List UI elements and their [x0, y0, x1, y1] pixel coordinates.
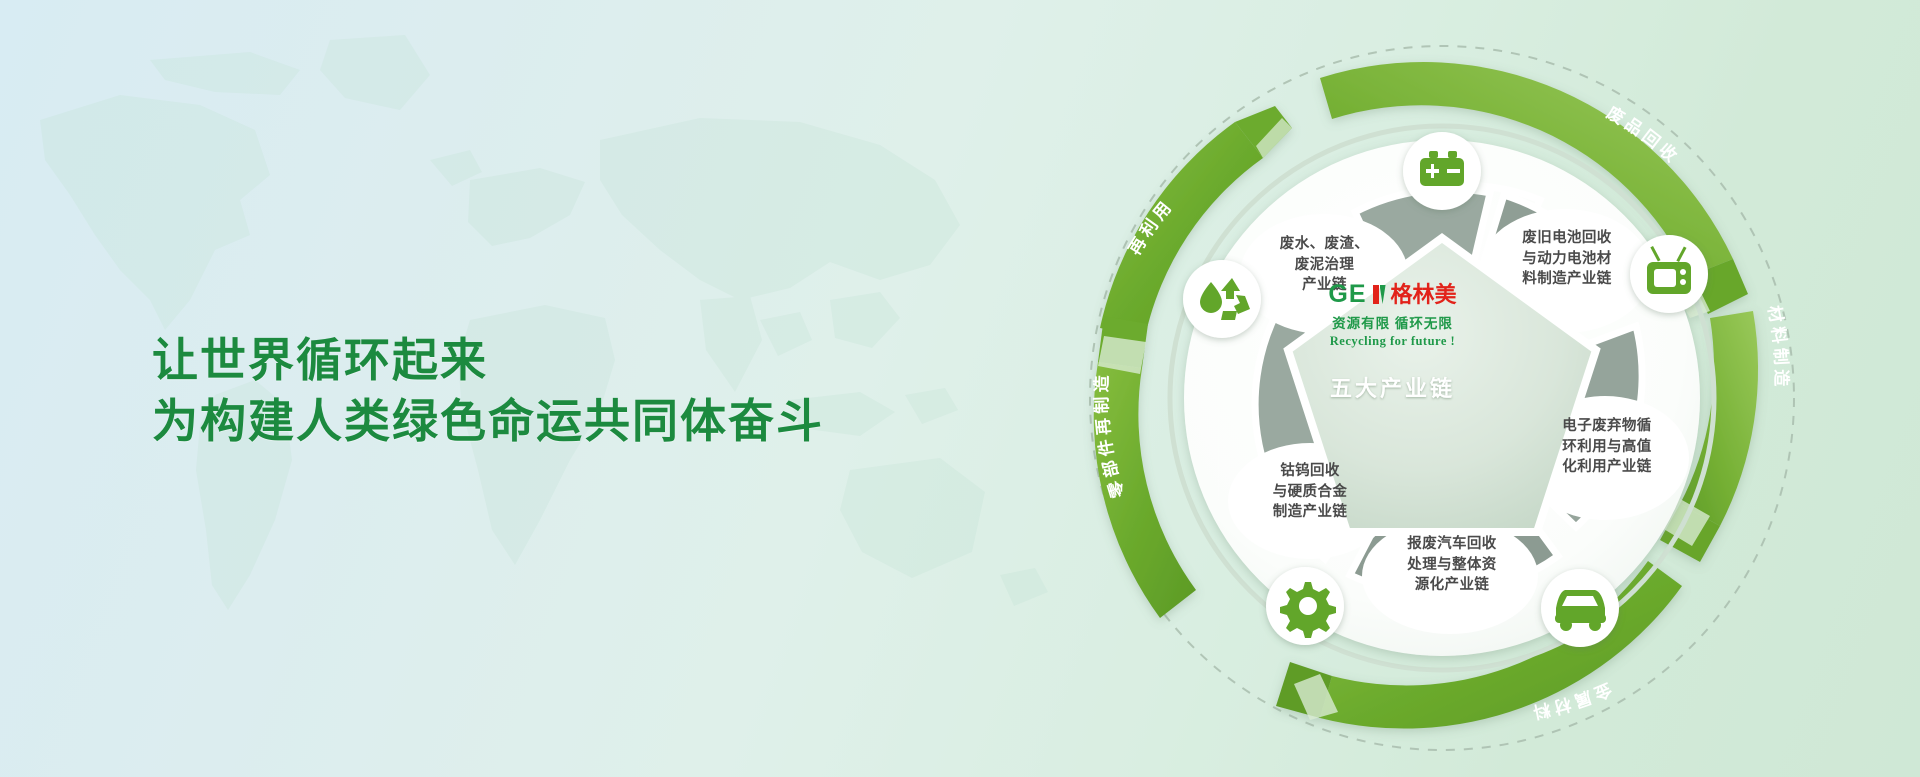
five-industry-chain-diagram: 再利用 废品回收 材料制造 金属材料 零部件再制造: [1020, 6, 1920, 766]
battery-icon-badge: [1403, 132, 1481, 210]
tv-icon-badge: [1630, 235, 1708, 313]
gem-m-mark-icon: [1373, 285, 1386, 304]
car-icon-badge: [1541, 569, 1619, 647]
gear-icon-badge: [1266, 567, 1344, 645]
center-logo: GE 格林美 资源有限 循环无限 Recycling for future ! …: [1285, 282, 1500, 403]
brand-slogan-en: Recycling for future !: [1285, 334, 1500, 349]
gear-icon: [1280, 582, 1336, 638]
recycle-water-icon-badge: [1183, 260, 1261, 338]
headline-line-1: 让世界循环起来: [152, 330, 824, 391]
brand-latin: GE: [1328, 282, 1366, 307]
brand-cn: 格林美: [1391, 284, 1457, 306]
center-caption: 五大产业链: [1285, 371, 1500, 403]
arc-label-material: 材料制造: [1764, 304, 1792, 391]
hero-banner: 让世界循环起来 为构建人类绿色命运共同体奋斗: [0, 0, 1920, 777]
brand-slogan-cn: 资源有限 循环无限: [1285, 312, 1500, 332]
brand-row: GE 格林美: [1285, 282, 1500, 307]
headline: 让世界循环起来 为构建人类绿色命运共同体奋斗: [152, 330, 824, 451]
headline-line-2: 为构建人类绿色命运共同体奋斗: [152, 391, 824, 452]
